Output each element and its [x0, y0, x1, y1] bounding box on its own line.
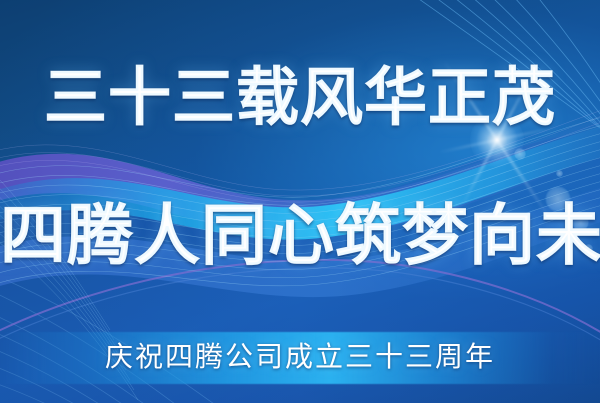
anniversary-banner: 三十三载风华正茂 四腾人同心筑梦向未来 庆祝四腾公司成立三十三周年 — [0, 0, 600, 403]
bokeh-circle-icon — [556, 170, 563, 177]
subtitle-text: 庆祝四腾公司成立三十三周年 — [0, 336, 600, 380]
bokeh-circle-icon — [514, 148, 526, 160]
headline-line-2: 四腾人同心筑梦向未来 — [0, 198, 600, 272]
headline-line-1: 三十三载风华正茂 — [0, 62, 600, 134]
